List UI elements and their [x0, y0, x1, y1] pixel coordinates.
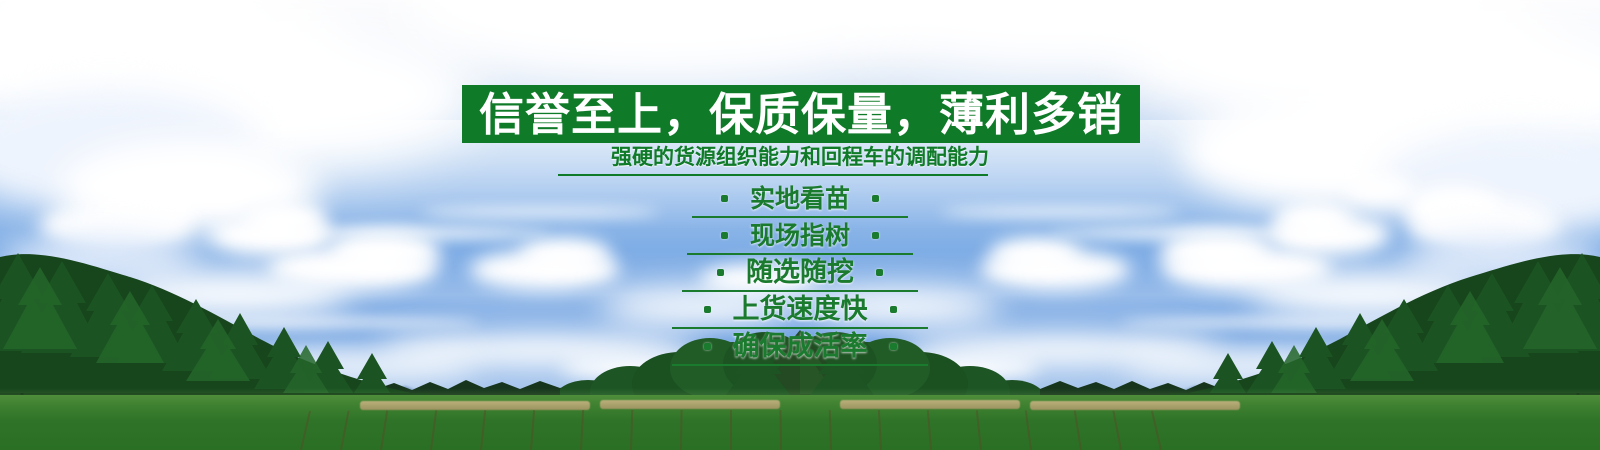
- bullet-dot-icon: [717, 269, 724, 276]
- feature-item-2: 现场指树: [0, 217, 1600, 254]
- feature-label: 实地看苗: [750, 186, 850, 211]
- feature-item-4: 上货速度快: [0, 291, 1600, 328]
- feature-label: 确保成活率: [733, 333, 868, 360]
- subtitle-underline: [558, 174, 988, 176]
- bullet-dot-icon: [872, 232, 879, 239]
- feature-label: 随选随挖: [746, 259, 854, 286]
- feature-item-3: 随选随挖: [0, 254, 1600, 291]
- subtitle-text: 强硬的货源组织能力和回程车的调配能力: [0, 147, 1600, 168]
- promo-banner: 信誉至上，保质保量，薄利多销 强硬的货源组织能力和回程车的调配能力 实地看苗 现…: [0, 0, 1600, 450]
- bullet-dot-icon: [721, 232, 728, 239]
- feature-underline: [672, 364, 928, 366]
- bullet-dot-icon: [704, 306, 711, 313]
- feature-item-1: 实地看苗: [0, 180, 1600, 217]
- banner-copy: 信誉至上，保质保量，薄利多销 强硬的货源组织能力和回程车的调配能力 实地看苗 现…: [0, 0, 1600, 450]
- feature-list: 实地看苗 现场指树 随选随挖 上货速度快: [0, 180, 1600, 365]
- bullet-dot-icon: [876, 269, 883, 276]
- bullet-dot-icon: [704, 343, 711, 350]
- bullet-dot-icon: [872, 195, 879, 202]
- headline-text: 信誉至上，保质保量，薄利多销: [479, 92, 1123, 137]
- bullet-dot-icon: [890, 343, 897, 350]
- bullet-dot-icon: [721, 195, 728, 202]
- headline-banner: 信誉至上，保质保量，薄利多销: [462, 85, 1140, 143]
- feature-label: 现场指树: [750, 223, 850, 248]
- feature-item-5: 确保成活率: [0, 328, 1600, 365]
- feature-label: 上货速度快: [733, 296, 868, 323]
- bullet-dot-icon: [890, 306, 897, 313]
